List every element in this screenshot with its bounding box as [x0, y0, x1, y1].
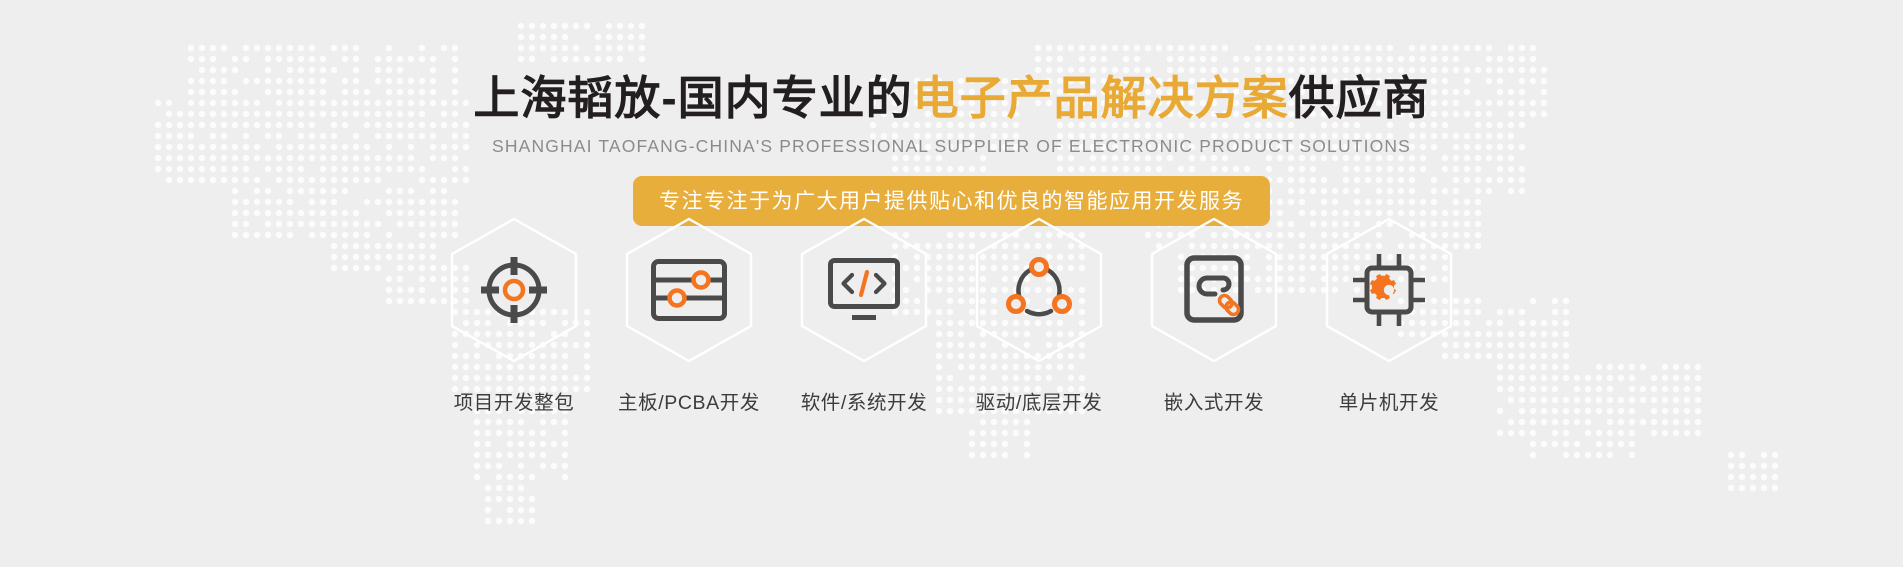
service-item-project-package[interactable]: 项目开发整包	[427, 216, 602, 415]
headline-part2: 供应商	[1289, 72, 1430, 124]
page-subtitle: SHANGHAI TAOFANG-CHINA'S PROFESSIONAL SU…	[0, 136, 1903, 157]
headline-accent: 电子产品解决方案	[913, 72, 1289, 124]
hex-cell	[449, 216, 579, 364]
service-item-driver[interactable]: 驱动/底层开发	[952, 216, 1127, 415]
hero-content: 上海韬放-国内专业的电子产品解决方案供应商 SHANGHAI TAOFANG-C…	[0, 0, 1903, 226]
service-label: 驱动/底层开发	[976, 386, 1103, 415]
hex-cell	[974, 216, 1104, 364]
service-item-mcu[interactable]: 单片机开发	[1302, 216, 1477, 415]
hex-cell	[1324, 216, 1454, 364]
service-item-software[interactable]: 软件/系统开发	[777, 216, 952, 415]
circuit-board-icon	[650, 258, 728, 322]
service-item-embedded[interactable]: 嵌入式开发	[1127, 216, 1302, 415]
hex-cell	[1149, 216, 1279, 364]
headline-part1: 上海韬放-国内专业的	[473, 72, 912, 124]
node-network-icon	[1003, 254, 1075, 326]
code-monitor-icon	[827, 257, 901, 323]
service-label: 项目开发整包	[454, 386, 575, 415]
service-label: 主板/PCBA开发	[618, 386, 760, 415]
microcontroller-gear-icon	[1350, 251, 1428, 329]
page-title: 上海韬放-国内专业的电子产品解决方案供应商	[0, 72, 1903, 125]
hero-banner: 上海韬放-国内专业的电子产品解决方案供应商 SHANGHAI TAOFANG-C…	[0, 0, 1903, 567]
service-icon-row: 项目开发整包 主板/PCBA开发	[0, 216, 1903, 415]
service-label: 嵌入式开发	[1164, 386, 1265, 415]
service-label: 软件/系统开发	[801, 386, 928, 415]
hex-cell	[624, 216, 754, 364]
crosshair-target-icon	[477, 253, 551, 327]
embedded-chip-link-icon	[1179, 254, 1249, 326]
hex-cell	[799, 216, 929, 364]
service-item-pcba[interactable]: 主板/PCBA开发	[602, 216, 777, 415]
service-label: 单片机开发	[1339, 386, 1440, 415]
